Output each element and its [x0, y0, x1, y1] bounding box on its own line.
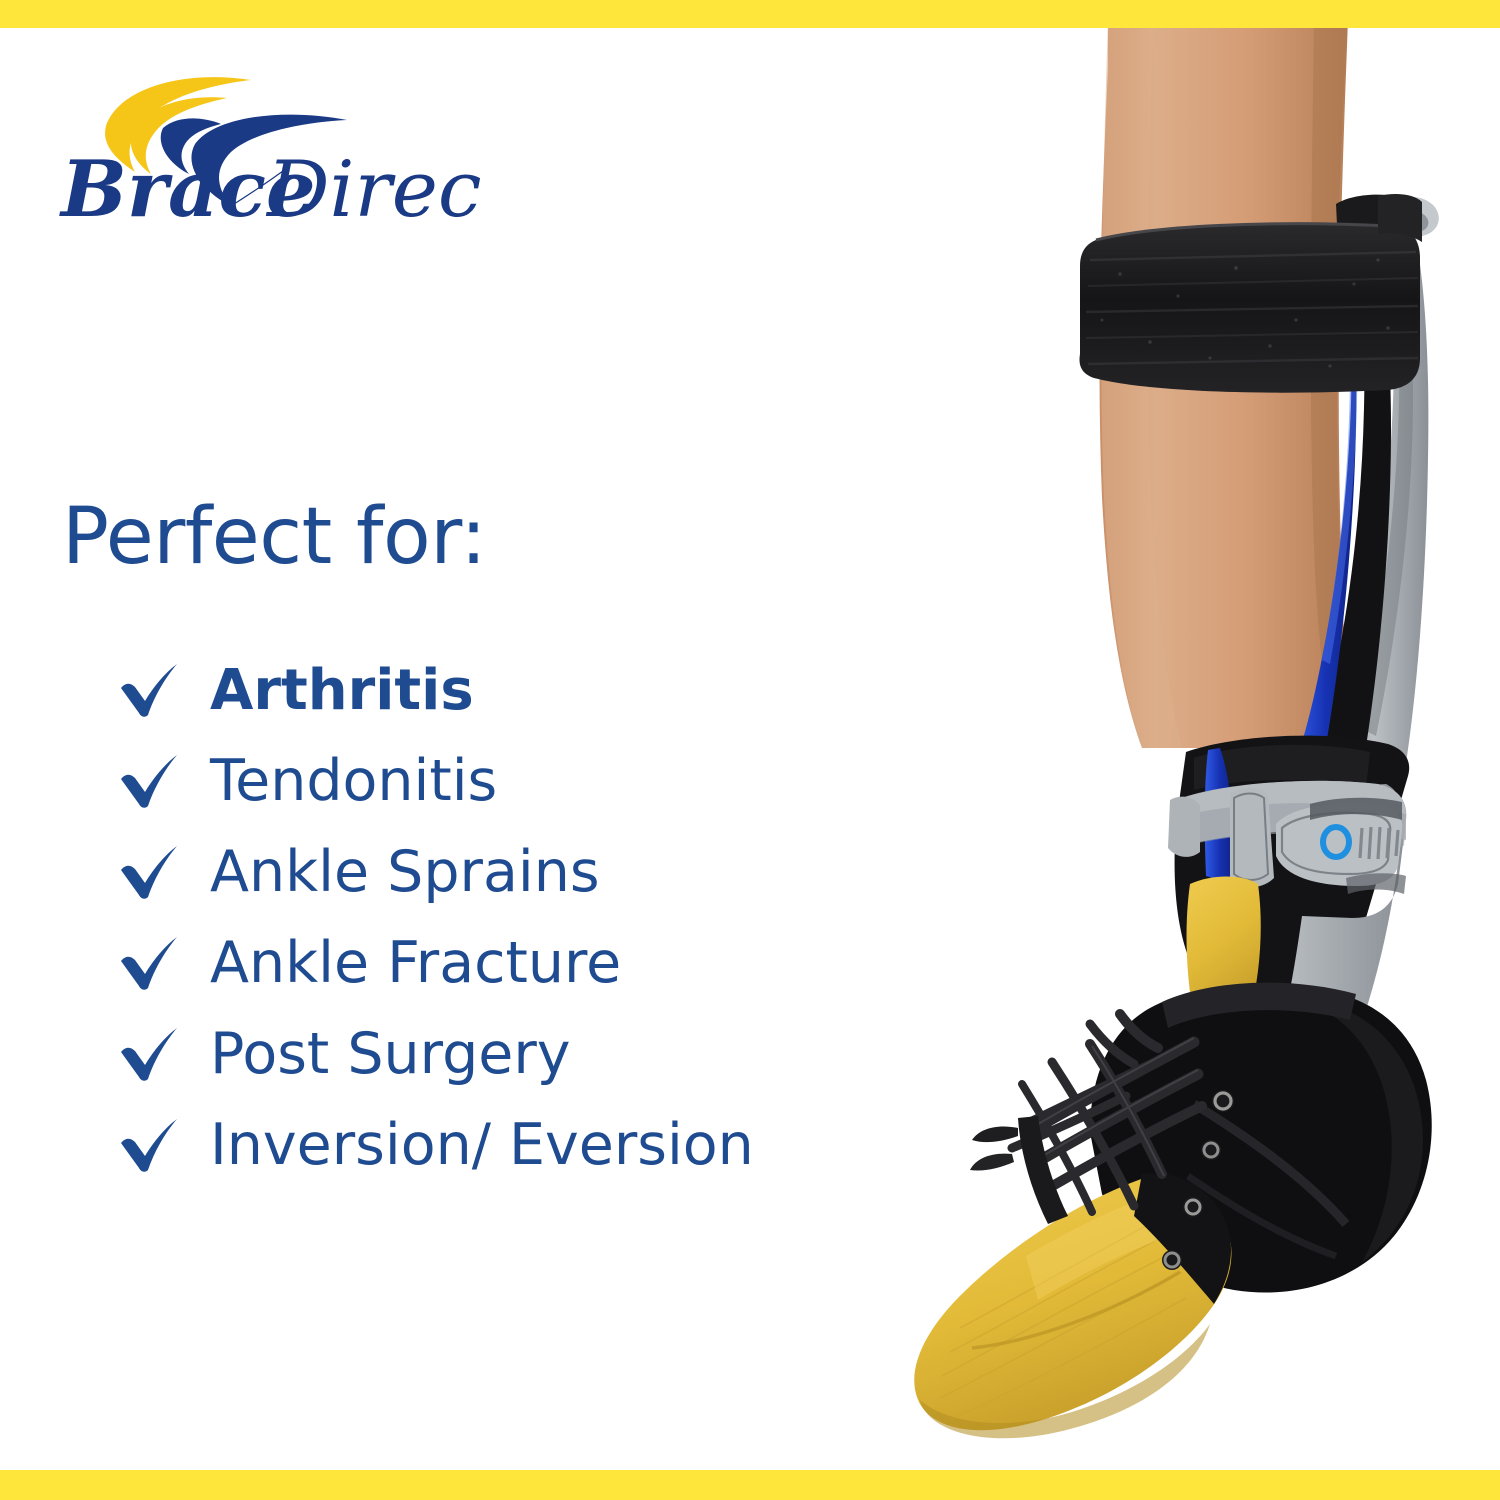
list-item-label: Arthritis — [210, 663, 474, 719]
bottom-accent-bar — [0, 1470, 1500, 1500]
list-item-label: Tendonitis — [210, 753, 497, 810]
list-item-label: Inversion/ Eversion — [210, 1117, 754, 1174]
shell-left-tab — [1168, 797, 1200, 857]
list-item-label: Ankle Fracture — [210, 935, 621, 992]
checkmark-icon — [118, 935, 188, 993]
product-feature-graphic: Brace Direct Perfect for: Arthritis Tend… — [0, 0, 1500, 1500]
checkmark-icon — [118, 844, 188, 902]
page-title: Perfect for: — [62, 498, 486, 576]
brace-direct-logo: Brace Direct — [55, 68, 485, 233]
checkmark-icon — [118, 753, 188, 811]
checkmark-icon — [118, 662, 188, 720]
list-item-label: Post Surgery — [210, 1026, 571, 1083]
product-photo-ankle-brace — [790, 28, 1500, 1470]
list-item-label: Ankle Sprains — [210, 844, 600, 901]
top-accent-bar — [0, 0, 1500, 28]
logo-word-direct: Direct — [265, 145, 485, 233]
checkmark-icon — [118, 1026, 188, 1084]
checkmark-icon — [118, 1117, 188, 1175]
